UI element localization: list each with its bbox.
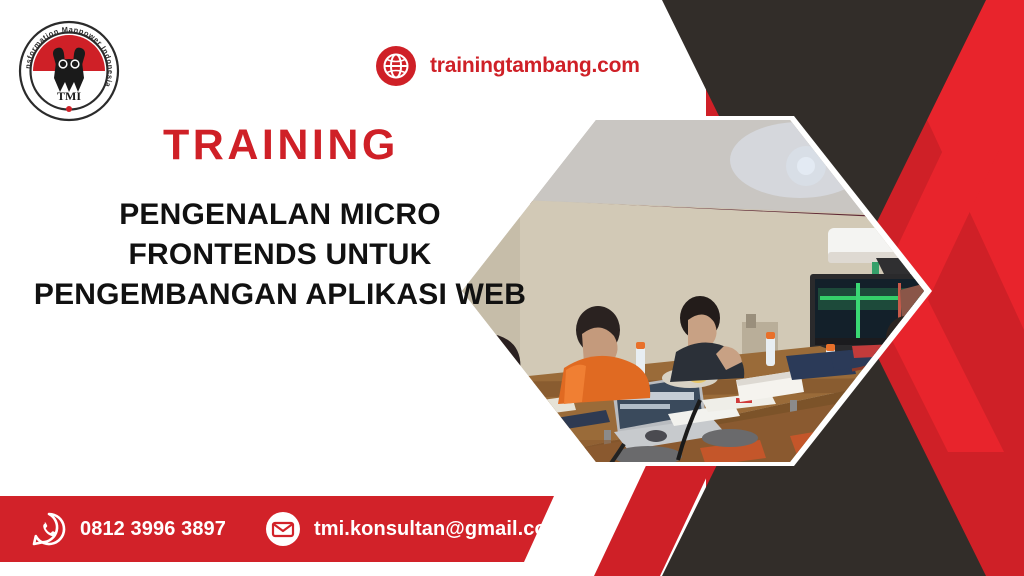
promo-banner: Transformation Manpower Indonesia TMI <box>0 0 1024 576</box>
logo-initials: TMI <box>57 89 81 103</box>
email-contact[interactable]: tmi.konsultan@gmail.com <box>264 510 565 548</box>
website-url[interactable]: trainingtambang.com <box>430 54 640 78</box>
company-logo: Transformation Manpower Indonesia TMI <box>16 18 122 124</box>
envelope-icon <box>264 510 302 548</box>
globe-icon <box>376 46 416 86</box>
website-line[interactable]: trainingtambang.com <box>376 46 640 86</box>
tmi-logo-icon: Transformation Manpower Indonesia TMI <box>16 18 122 124</box>
training-kicker: TRAINING <box>163 124 399 167</box>
whatsapp-contact[interactable]: 0812 3996 3897 <box>30 510 226 548</box>
whatsapp-number[interactable]: 0812 3996 3897 <box>80 518 226 541</box>
email-address[interactable]: tmi.konsultan@gmail.com <box>314 518 565 541</box>
page-title: PENGENALAN MICRO FRONTENDS UNTUK PENGEMB… <box>30 195 530 315</box>
footer-contact-bar: 0812 3996 3897 tmi.konsultan@gmail.com <box>0 496 565 562</box>
whatsapp-icon <box>30 510 68 548</box>
